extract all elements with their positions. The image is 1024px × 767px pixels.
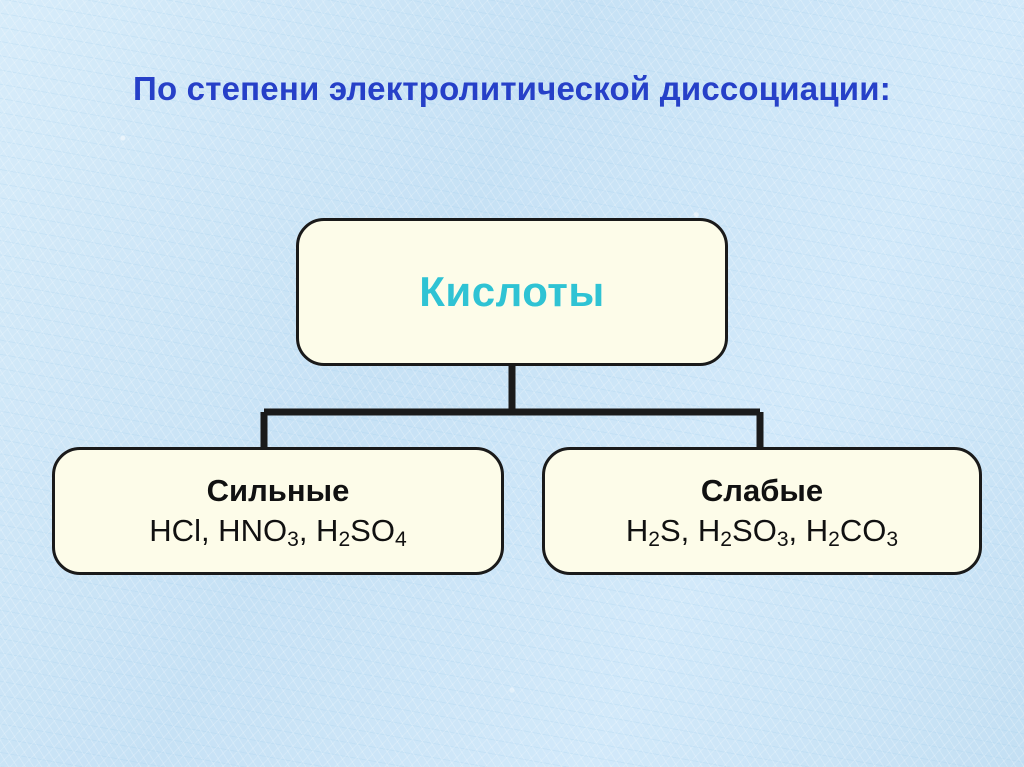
slide: По степени электролитической диссоциации… — [0, 0, 1024, 767]
node-acids-root: Кислоты — [296, 218, 728, 366]
node-weak-formulas: H2S, H2SO3, H2CO3 — [626, 513, 898, 549]
page-title: По степени электролитической диссоциации… — [0, 66, 1024, 113]
node-strong-acids: Сильные HCl, HNO3, H2SO4 — [52, 447, 504, 575]
node-root-label: Кислоты — [419, 268, 605, 316]
node-strong-formulas: HCl, HNO3, H2SO4 — [149, 513, 406, 549]
node-weak-acids: Слабые H2S, H2SO3, H2CO3 — [542, 447, 982, 575]
node-strong-label: Сильные — [207, 473, 350, 509]
node-weak-label: Слабые — [701, 473, 823, 509]
tree-connector — [0, 0, 1024, 767]
